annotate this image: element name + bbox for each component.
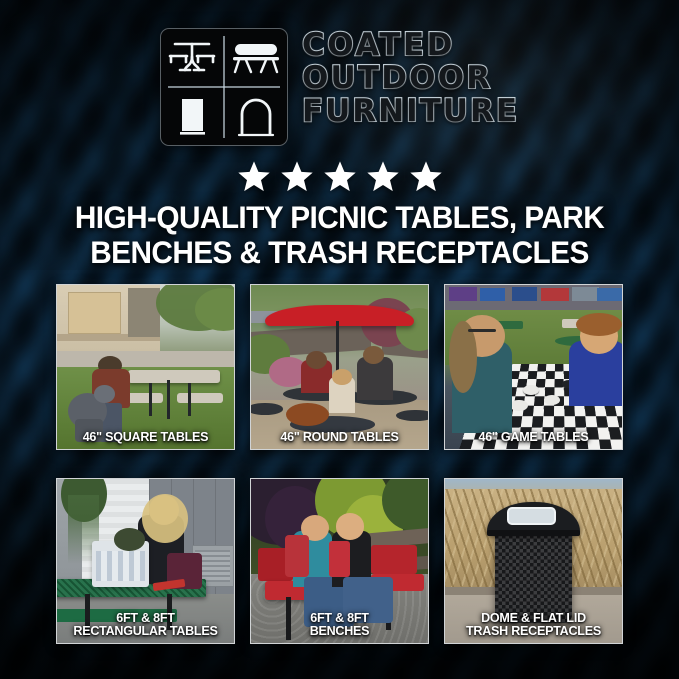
product-caption: DOME & FLAT LID TRASH RECEPTACLES: [451, 611, 615, 638]
trash-receptacle-icon: [160, 87, 224, 146]
caption-line: DOME & FLAT LID: [451, 611, 615, 625]
product-caption: 6FT & 8FT RECTANGULAR TABLES: [63, 611, 227, 638]
bike-rack-arch-icon: [224, 87, 288, 146]
star-icon: [409, 160, 443, 193]
page-title: HIGH-QUALITY PICNIC TABLES, PARK BENCHES…: [45, 200, 634, 271]
star-icon: [237, 160, 271, 193]
product-card-grid: 46" SQUARE TABLES: [56, 284, 623, 644]
headline-line2: BENCHES & TRASH RECEPTACLES: [45, 235, 634, 270]
product-card-square-tables[interactable]: 46" SQUARE TABLES: [56, 284, 235, 450]
caption-line: 6FT & 8FT: [257, 611, 421, 625]
caption-line: 6FT & 8FT: [63, 611, 227, 625]
product-photo-round-tables: [251, 285, 428, 449]
product-caption: 6FT & 8FT BENCHES: [257, 611, 421, 638]
picnic-table-icon: [160, 28, 224, 87]
brand-logo: COATED OUTDOOR FURNITURE: [0, 28, 679, 146]
product-caption: 46" GAME TABLES: [451, 430, 615, 444]
caption-line: TRASH RECEPTACLES: [451, 624, 615, 638]
product-caption: 46" ROUND TABLES: [257, 430, 421, 444]
park-bench-icon: [224, 28, 288, 87]
brand-name-line1: COATED: [302, 30, 519, 62]
brand-name-line3: FURNITURE: [302, 96, 519, 128]
star-icon: [366, 160, 400, 193]
caption-line: 46" ROUND TABLES: [257, 430, 421, 444]
product-photo-square-tables: [57, 285, 234, 449]
product-card-trash-receptacles[interactable]: DOME & FLAT LID TRASH RECEPTACLES: [444, 478, 623, 644]
product-card-round-tables[interactable]: 46" ROUND TABLES: [250, 284, 429, 450]
caption-line: 46" GAME TABLES: [451, 430, 615, 444]
product-photo-game-tables: [445, 285, 622, 449]
product-card-benches[interactable]: 6FT & 8FT BENCHES: [250, 478, 429, 644]
product-card-rectangular-tables[interactable]: 6FT & 8FT RECTANGULAR TABLES: [56, 478, 235, 644]
star-icon: [280, 160, 314, 193]
caption-line: RECTANGULAR TABLES: [63, 624, 227, 638]
promo-poster: COATED OUTDOOR FURNITURE HIGH-QUALITY PI…: [0, 0, 679, 679]
star-icon: [323, 160, 357, 193]
star-rating: [0, 160, 679, 193]
headline-line1: HIGH-QUALITY PICNIC TABLES, PARK: [75, 199, 604, 235]
brand-name-line2: OUTDOOR: [302, 63, 519, 95]
product-caption: 46" SQUARE TABLES: [63, 430, 227, 444]
logo-mark-icon: [160, 28, 288, 146]
brand-wordmark: COATED OUTDOOR FURNITURE: [302, 28, 519, 128]
caption-line: 46" SQUARE TABLES: [63, 430, 227, 444]
caption-line: BENCHES: [257, 624, 421, 638]
product-card-game-tables[interactable]: 46" GAME TABLES: [444, 284, 623, 450]
